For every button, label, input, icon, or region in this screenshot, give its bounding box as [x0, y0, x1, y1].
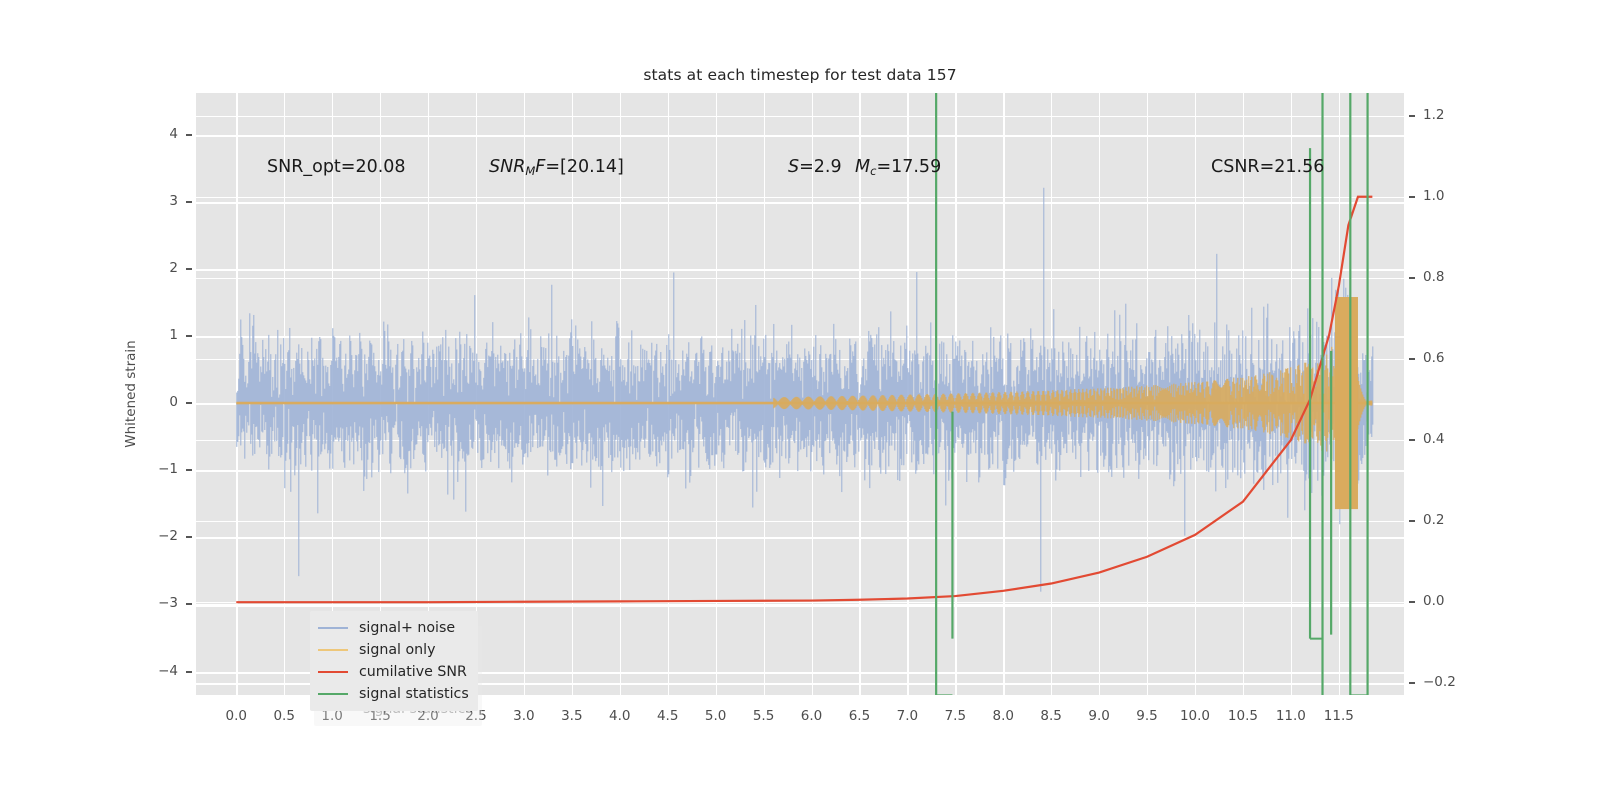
y-tick-label-left: −2 — [118, 528, 178, 544]
legend-swatch-icon — [318, 649, 348, 651]
y-tick-mark-left — [186, 603, 192, 605]
y-tick-mark-left — [186, 134, 192, 136]
y-tick-mark-right — [1409, 196, 1415, 198]
y-tick-label-left: 3 — [118, 193, 178, 209]
legend-swatch-icon — [318, 671, 348, 673]
y-tick-label-right: 1.2 — [1423, 107, 1483, 123]
legend-item-1[interactable]: signal only — [318, 639, 469, 661]
y-tick-mark-left — [186, 268, 192, 270]
y-tick-mark-left — [186, 335, 192, 337]
legend-swatch-icon — [318, 693, 348, 695]
legend-item-label: signal statistics — [359, 686, 469, 702]
annotation-snr-mf: SNRMF=[20.14] — [489, 157, 624, 177]
y-tick-mark-left — [186, 402, 192, 404]
y-tick-label-right: 0.6 — [1423, 350, 1483, 366]
y-tick-label-right: 0.2 — [1423, 512, 1483, 528]
y-tick-label-right: 0.0 — [1423, 593, 1483, 609]
y-tick-mark-right — [1409, 115, 1415, 117]
y-tick-label-right: 0.4 — [1423, 431, 1483, 447]
annotation-snr-stat-s: S=2.9 — [788, 157, 842, 177]
y-tick-mark-left — [186, 201, 192, 203]
legend-box[interactable]: signal+ noisesignal onlycumilative SNRsi… — [310, 611, 478, 711]
y-tick-label-left: −1 — [118, 461, 178, 477]
y-tick-label-left: −4 — [118, 663, 178, 679]
chart-title: stats at each timestep for test data 157 — [0, 66, 1600, 84]
y-tick-mark-right — [1409, 358, 1415, 360]
y-tick-mark-right — [1409, 682, 1415, 684]
annotation-chirp-mass: Mc=17.59 — [855, 157, 941, 177]
figure-canvas: stats at each timestep for test data 157… — [0, 0, 1600, 800]
y-tick-label-left: 1 — [118, 327, 178, 343]
legend-item-3[interactable]: signal statistics — [318, 683, 469, 705]
plot-area: SNR_opt=20.08SNRMF=[20.14]S=2.9Mc=17.59C… — [196, 93, 1404, 695]
y-tick-mark-left — [186, 671, 192, 673]
annotation-csnr: CSNR=21.56 — [1211, 157, 1324, 177]
legend-item-label: signal only — [359, 642, 436, 658]
y-tick-label-left: 2 — [118, 260, 178, 276]
y-tick-mark-left — [186, 469, 192, 471]
y-tick-mark-left — [186, 536, 192, 538]
x-tick-label: 11.5 — [1309, 708, 1369, 724]
y-tick-label-left: −3 — [118, 595, 178, 611]
y-tick-mark-right — [1409, 601, 1415, 603]
legend-item-2[interactable]: cumilative SNR — [318, 661, 469, 683]
legend-swatch-icon — [318, 627, 348, 629]
series-canvas — [196, 93, 1404, 695]
annotation-snr-opt: SNR_opt=20.08 — [267, 157, 406, 177]
y-tick-label-left: 0 — [118, 394, 178, 410]
y-tick-label-left: 4 — [118, 126, 178, 142]
y-tick-mark-right — [1409, 439, 1415, 441]
y-tick-mark-right — [1409, 277, 1415, 279]
series-signal-only — [236, 297, 1372, 509]
y-tick-label-right: 0.8 — [1423, 269, 1483, 285]
legend-item-0[interactable]: signal+ noise — [318, 617, 469, 639]
y-tick-label-right: 1.0 — [1423, 188, 1483, 204]
y-tick-mark-right — [1409, 520, 1415, 522]
legend-item-label: cumilative SNR — [359, 664, 467, 680]
y-tick-label-right: −0.2 — [1423, 674, 1483, 690]
legend-item-label: signal+ noise — [359, 620, 455, 636]
data-layer — [196, 93, 1404, 695]
